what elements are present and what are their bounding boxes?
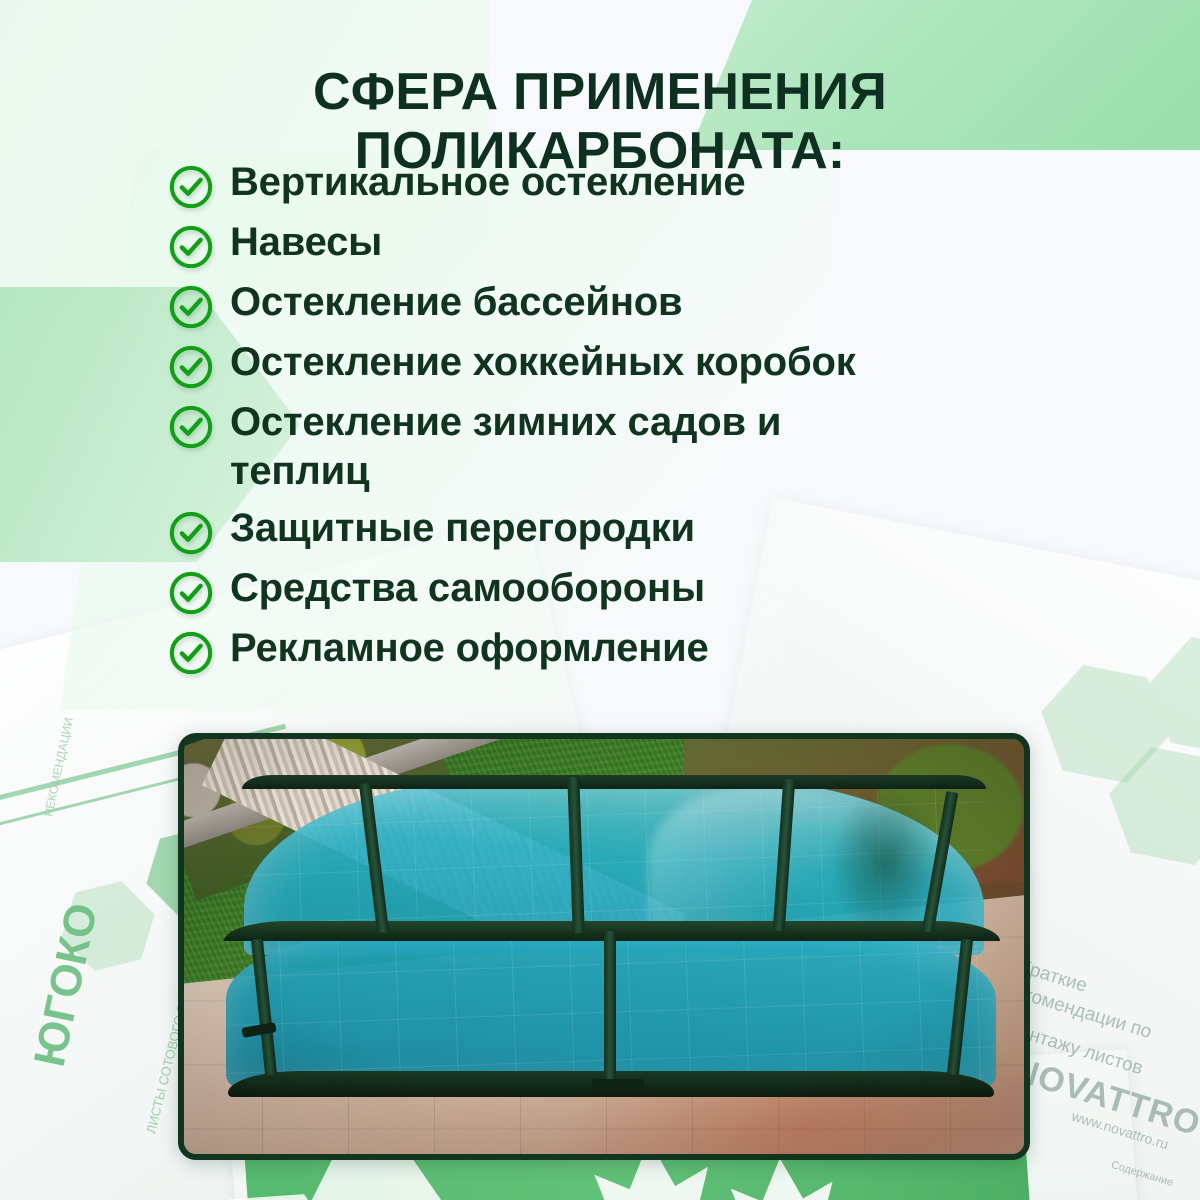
list-item: Остекление бассейнов bbox=[168, 278, 1068, 330]
pool-enclosure bbox=[218, 779, 1008, 1109]
list-item-label: Рекламное оформление bbox=[230, 624, 709, 673]
poster-canvas: Краткие рекомендации по монтажу листов N… bbox=[0, 0, 1200, 1200]
check-circle-icon bbox=[168, 284, 214, 330]
list-item: Навесы bbox=[168, 218, 1068, 270]
list-item-label: Остекление хоккейных коробок bbox=[230, 338, 856, 387]
list-item: Остекление зимних садов и теплиц bbox=[168, 398, 1068, 496]
list-item: Защитные перегородки bbox=[168, 504, 1068, 556]
list-item: Остекление хоккейных коробок bbox=[168, 338, 1068, 390]
frame-mullion bbox=[604, 931, 616, 1081]
enclosure-handle bbox=[592, 1079, 644, 1090]
pool-enclosure-photo bbox=[178, 733, 1030, 1160]
list-item-label: Остекление зимних садов и теплиц bbox=[230, 398, 910, 496]
check-circle-icon bbox=[168, 224, 214, 270]
check-circle-icon bbox=[168, 630, 214, 676]
list-item-label: Вертикальное остекление bbox=[230, 158, 745, 207]
list-item-label: Защитные перегородки bbox=[230, 504, 695, 553]
check-circle-icon bbox=[168, 570, 214, 616]
list-item-label: Навесы bbox=[230, 218, 382, 267]
photo-scene bbox=[184, 739, 1024, 1154]
check-circle-icon bbox=[168, 404, 214, 450]
list-item: Средства самообороны bbox=[168, 564, 1068, 616]
list-item: Рекламное оформление bbox=[168, 624, 1068, 676]
list-item-label: Средства самообороны bbox=[230, 564, 705, 613]
page-title-line-1: СФЕРА ПРИМЕНЕНИЯ bbox=[0, 63, 1200, 122]
check-circle-icon bbox=[168, 344, 214, 390]
frame-rail-top bbox=[242, 775, 986, 789]
list-item-label: Остекление бассейнов bbox=[230, 278, 682, 327]
check-circle-icon bbox=[168, 510, 214, 556]
list-item: Вертикальное остекление bbox=[168, 158, 1068, 210]
check-circle-icon bbox=[168, 164, 214, 210]
applications-checklist: Вертикальное остекление Навесы Остеклени… bbox=[168, 158, 1068, 684]
